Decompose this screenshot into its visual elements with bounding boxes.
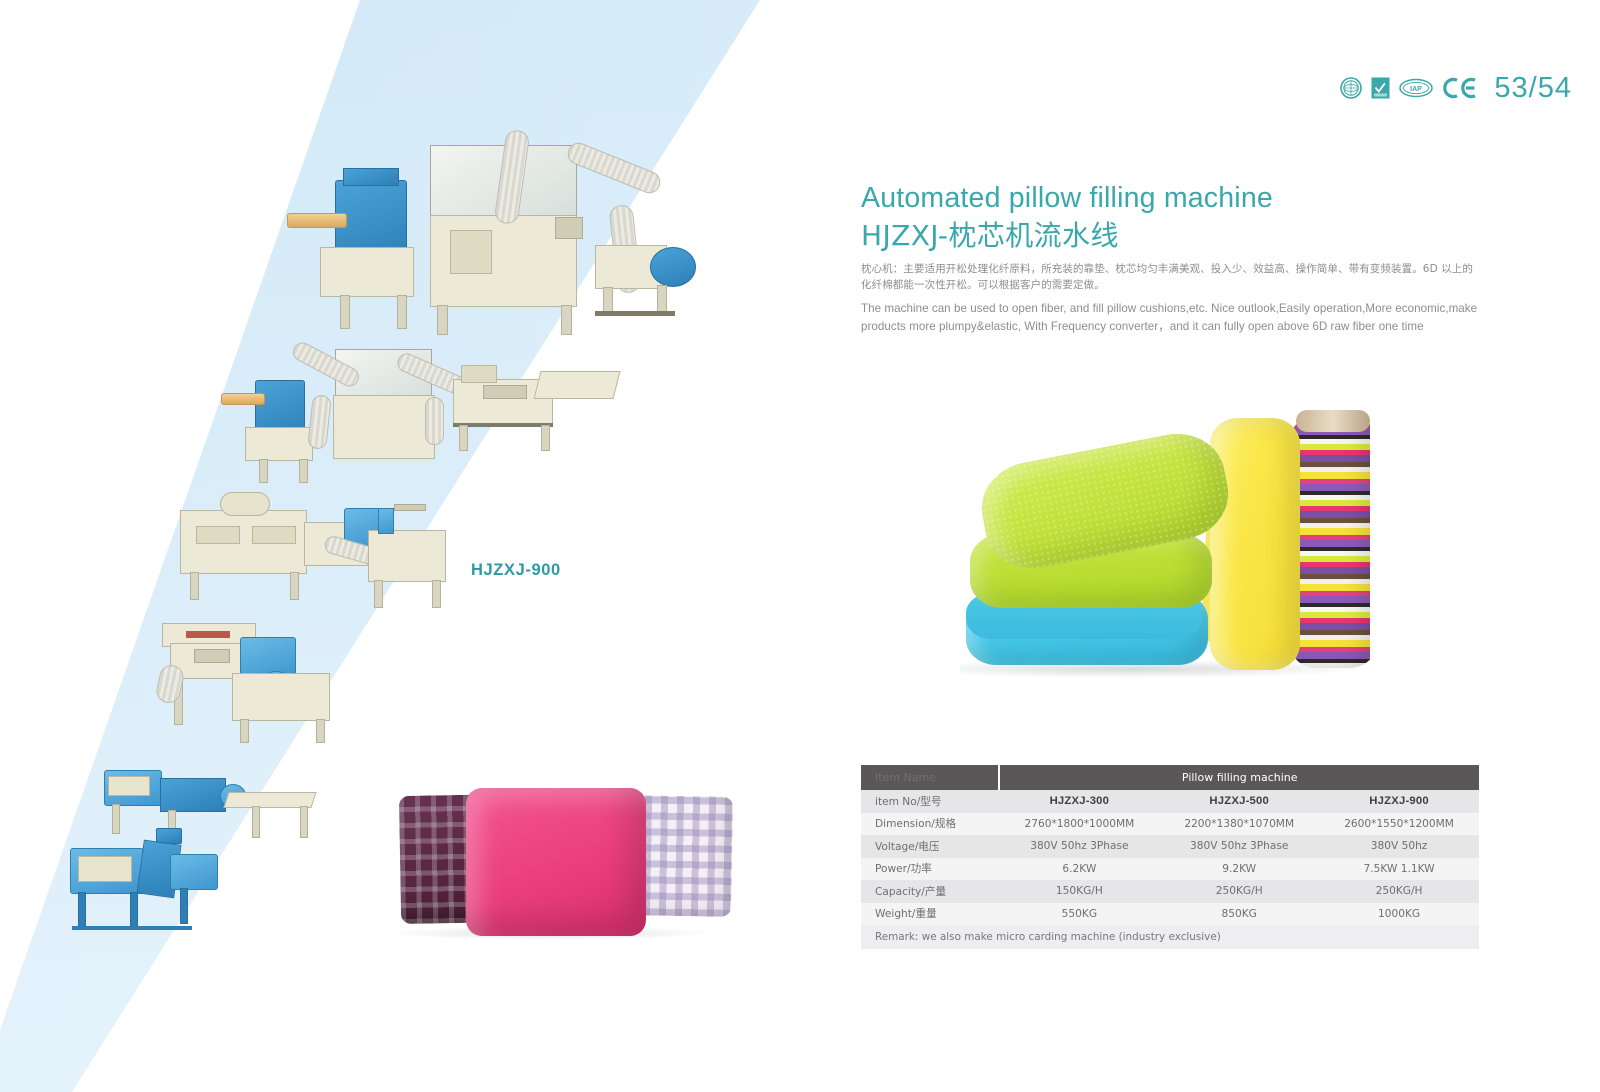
table-row: Power/功率 6.2KW 9.2KW 7.5KW 1.1KW — [861, 858, 1479, 881]
row-value: 380V 50hz — [1319, 835, 1479, 858]
machine-line-5 — [100, 760, 320, 850]
svg-text:IAP: IAP — [1410, 86, 1422, 93]
pillow-product-photo — [960, 398, 1370, 680]
pink-pillow — [466, 788, 646, 936]
iso-seal-icon — [1340, 77, 1362, 99]
machine-line-4 — [140, 615, 400, 730]
description-chinese: 枕心机：主要适用开松处理化纤原料，所充装的靠垫、枕芯均匀丰满美观、投入少、效益高… — [861, 262, 1479, 293]
row-value: 7.5KW 1.1KW — [1319, 858, 1479, 881]
spec-table-body: Item Name Pillow filling machine item No… — [861, 765, 1479, 949]
row-value: 150KG/H — [999, 880, 1159, 903]
header-group-title: Pillow filling machine — [999, 765, 1479, 790]
page-title-english: Automated pillow filling machine — [861, 182, 1273, 215]
check-badge-icon — [1371, 77, 1390, 99]
row-value: HJZXJ-500 — [1159, 790, 1319, 813]
row-value: 250KG/H — [1159, 880, 1319, 903]
table-row: Dimension/规格 2760*1800*1000MM 2200*1380*… — [861, 813, 1479, 836]
row-value: 2760*1800*1000MM — [999, 813, 1159, 836]
row-value: 380V 50hz 3Phase — [999, 835, 1159, 858]
row-value: 380V 50hz 3Phase — [1159, 835, 1319, 858]
row-label: item No/型号 — [861, 790, 999, 813]
table-row: Voltage/电压 380V 50hz 3Phase 380V 50hz 3P… — [861, 835, 1479, 858]
machine-line-1 — [265, 135, 715, 325]
row-value: 250KG/H — [1319, 880, 1479, 903]
machine-model-label: HJZXJ-900 — [471, 561, 561, 580]
row-label: Capacity/产量 — [861, 880, 999, 903]
description-english: The machine can be used to open fiber, a… — [861, 300, 1481, 335]
row-label: Voltage/电压 — [861, 835, 999, 858]
striped-pillow — [1290, 416, 1370, 668]
machine-line-6 — [62, 840, 262, 930]
table-remark-row: Remark: we also make micro carding machi… — [861, 925, 1479, 949]
row-value: 9.2KW — [1159, 858, 1319, 881]
table-row: item No/型号 HJZXJ-300 HJZXJ-500 HJZXJ-900 — [861, 790, 1479, 813]
machine-line-3 — [178, 490, 478, 600]
ce-mark-icon — [1442, 76, 1478, 100]
row-label: Power/功率 — [861, 858, 999, 881]
spec-table-header-row: Item Name Pillow filling machine — [861, 765, 1479, 790]
row-value: 6.2KW — [999, 858, 1159, 881]
page-number: 53/54 — [1494, 72, 1572, 105]
machine-line-2 — [215, 345, 635, 475]
row-value: HJZXJ-300 — [999, 790, 1159, 813]
catalog-page: IAP 53/54 Automated pillow filling machi… — [0, 0, 1600, 1092]
remark-text: Remark: we also make micro carding machi… — [861, 925, 1479, 949]
specification-table: Item Name Pillow filling machine item No… — [861, 765, 1479, 949]
table-row: Capacity/产量 150KG/H 250KG/H 250KG/H — [861, 880, 1479, 903]
row-value: 1000KG — [1319, 903, 1479, 926]
table-row: Weight/重量 550KG 850KG 1000KG — [861, 903, 1479, 926]
iap-oval-icon: IAP — [1399, 78, 1433, 98]
row-label: Dimension/规格 — [861, 813, 999, 836]
pillow-photo-bottom — [366, 780, 728, 940]
row-value: 2600*1550*1200MM — [1319, 813, 1479, 836]
row-value: 850KG — [1159, 903, 1319, 926]
row-value: HJZXJ-900 — [1319, 790, 1479, 813]
row-value: 2200*1380*1070MM — [1159, 813, 1319, 836]
certification-logos: IAP — [1340, 76, 1478, 100]
page-title-chinese: HJZXJ-枕芯机流水线 — [861, 214, 1119, 254]
row-value: 550KG — [999, 903, 1159, 926]
yellow-pillow — [1210, 418, 1300, 670]
header-item-name: Item Name — [861, 765, 999, 790]
row-label: Weight/重量 — [861, 903, 999, 926]
